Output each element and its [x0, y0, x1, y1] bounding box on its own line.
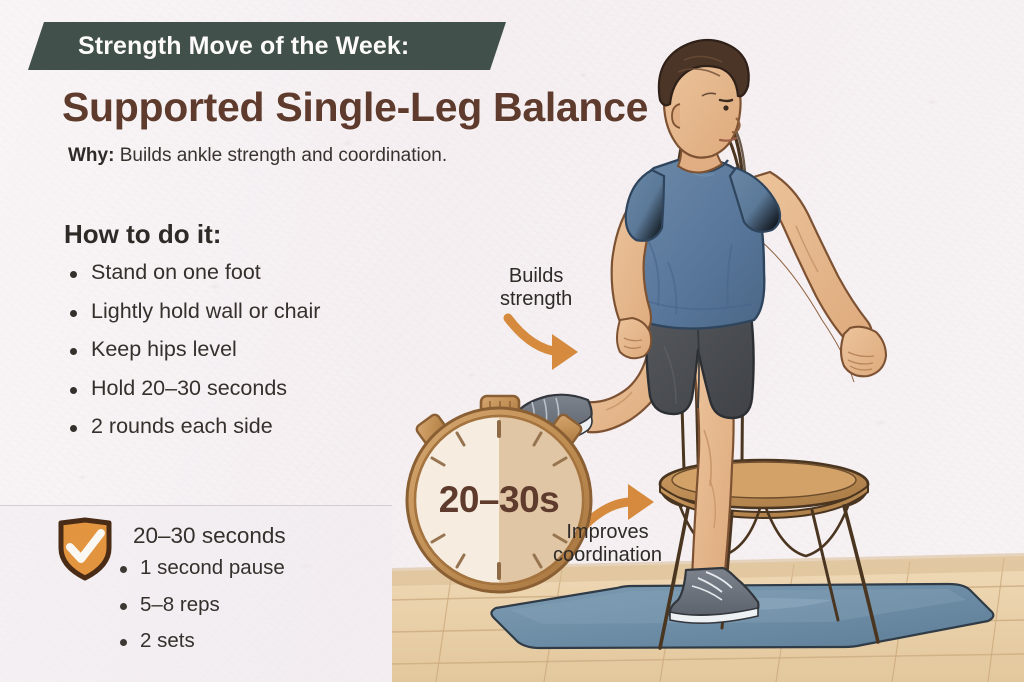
- stopwatch-dial-label: 20–30s: [392, 479, 606, 521]
- list-item: Lightly hold wall or chair: [70, 301, 320, 323]
- list-item: 5–8 reps: [120, 595, 285, 616]
- list-item: 1 second pause: [120, 558, 285, 579]
- steps-list: Stand on one foot Lightly hold wall or c…: [70, 262, 320, 455]
- howto-heading: How to do it:: [64, 219, 221, 250]
- callout-line-2: coordination: [553, 544, 662, 567]
- banner-label: Strength Move of the Week:: [28, 32, 409, 61]
- header-banner: Strength Move of the Week:: [28, 22, 506, 70]
- list-item: Hold 20–30 seconds: [70, 378, 320, 400]
- hand-on-chair: [841, 327, 886, 377]
- callout-builds-strength: Builds strength: [500, 265, 572, 311]
- summary-lead: 20–30 seconds: [133, 523, 286, 549]
- list-item: Keep hips level: [70, 339, 320, 361]
- page-title: Supported Single-Leg Balance: [62, 84, 648, 131]
- callout-line-2: strength: [500, 288, 572, 311]
- curved-arrow-strength-icon: [508, 318, 578, 370]
- list-item: 2 sets: [120, 631, 285, 652]
- callout-improves-coordination: Improves coordination: [553, 521, 662, 567]
- why-line: Why: Builds ankle strength and coordinat…: [68, 145, 447, 167]
- shield-check-icon: [58, 518, 112, 580]
- why-text: Builds ankle strength and coordination.: [114, 145, 447, 166]
- panel-divider: [0, 505, 392, 506]
- infographic-poster: 20–30s Builds strength Improves coordina…: [0, 0, 1024, 682]
- summary-list: 1 second pause 5–8 reps 2 sets: [120, 558, 285, 668]
- list-item: Stand on one foot: [70, 262, 320, 284]
- list-item: 2 rounds each side: [70, 416, 320, 438]
- callout-line-1: Improves: [553, 521, 662, 544]
- why-label: Why:: [68, 145, 114, 166]
- callout-line-1: Builds: [500, 265, 572, 288]
